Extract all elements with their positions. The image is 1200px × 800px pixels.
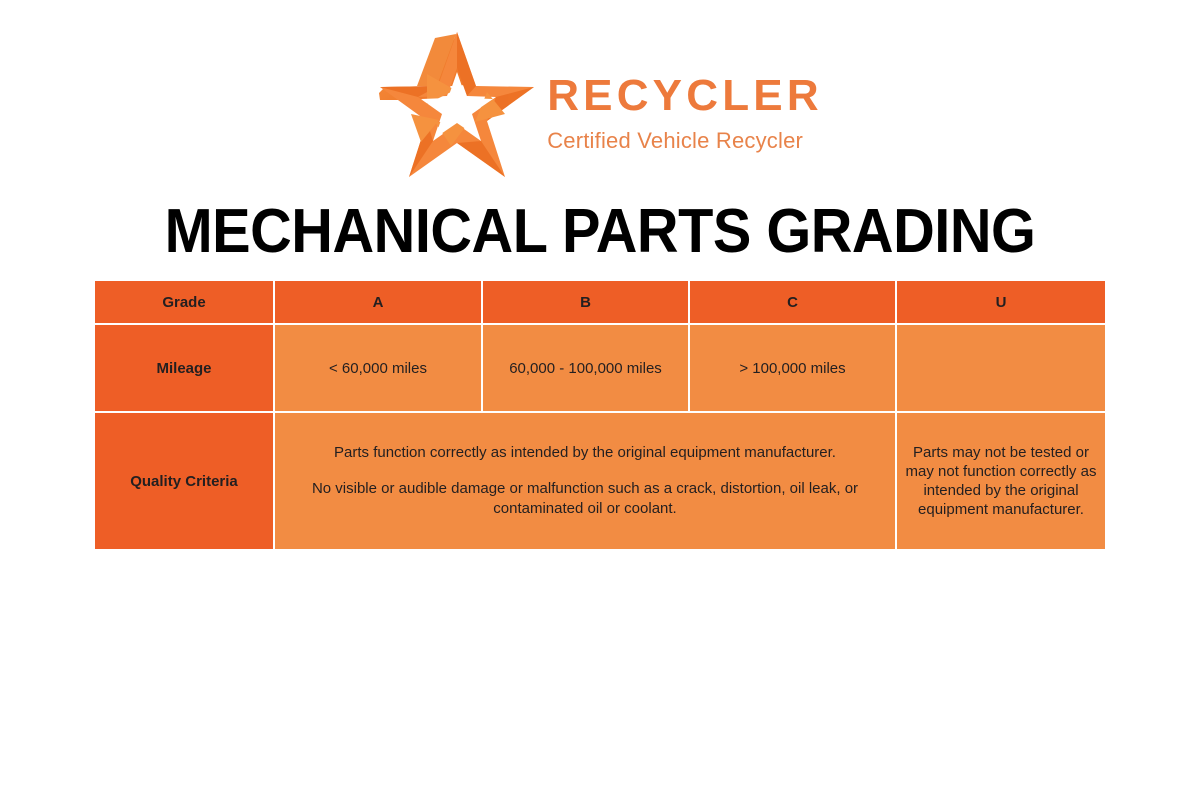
quality-criteria-cell-u: Parts may not be tested or may not funct… (897, 413, 1105, 549)
mileage-cell-c: > 100,000 miles (690, 325, 897, 413)
quality-paragraph-1: Parts function correctly as intended by … (281, 443, 889, 463)
logo-wordmark: RECYCLER (547, 74, 823, 118)
header-cell-grade-u: U (897, 281, 1105, 325)
mileage-cell-u (897, 325, 1105, 413)
header-cell-grade-a: A (275, 281, 483, 325)
logo-text: RECYCLER Certified Vehicle Recycler (547, 60, 823, 152)
recycling-star-icon (377, 30, 537, 182)
table-header-row: Grade A B C U (95, 281, 1105, 325)
mileage-cell-b: 60,000 - 100,000 miles (483, 325, 690, 413)
mileage-cell-a: < 60,000 miles (275, 325, 483, 413)
row-label-mileage: Mileage (95, 325, 275, 413)
grading-page: RECYCLER Certified Vehicle Recycler MECH… (0, 0, 1200, 800)
header-cell-grade-c: C (690, 281, 897, 325)
quality-paragraph-2: No visible or audible damage or malfunct… (281, 479, 889, 519)
quality-criteria-merged-cell: Parts function correctly as intended by … (275, 413, 897, 549)
logo-tagline: Certified Vehicle Recycler (547, 130, 823, 152)
mechanical-parts-grading-table: Grade A B C U Mileage < 60,000 miles 60,… (95, 281, 1105, 549)
header-cell-grade: Grade (95, 281, 275, 325)
brand-logo: RECYCLER Certified Vehicle Recycler (0, 26, 1200, 186)
logo-inner: RECYCLER Certified Vehicle Recycler (377, 30, 823, 182)
table-row-mileage: Mileage < 60,000 miles 60,000 - 100,000 … (95, 325, 1105, 413)
header-cell-grade-b: B (483, 281, 690, 325)
row-label-quality-criteria: Quality Criteria (95, 413, 275, 549)
page-title: MECHANICAL PARTS GRADING (42, 196, 1158, 267)
table-row-quality-criteria: Quality Criteria Parts function correctl… (95, 413, 1105, 549)
